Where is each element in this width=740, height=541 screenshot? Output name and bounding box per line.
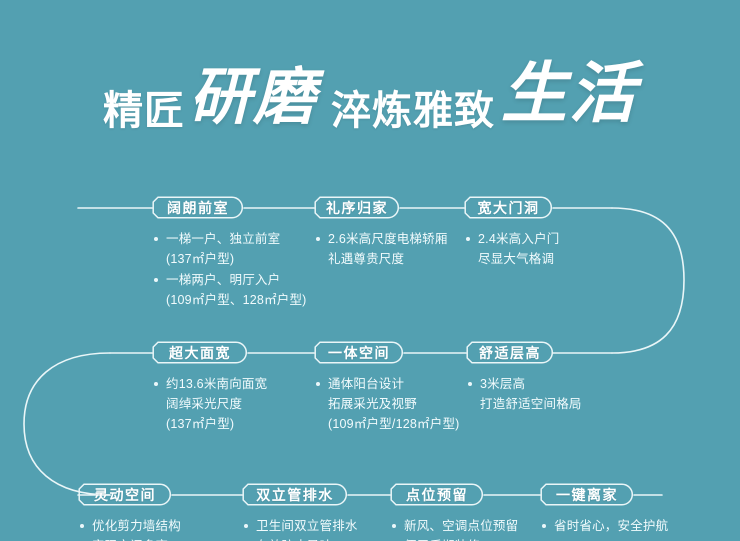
bullet-sub2: (137㎡户型) (166, 417, 234, 431)
connector-uturn-left (24, 353, 110, 495)
card-label-box: 礼序归家 (314, 196, 400, 219)
card-shushi-cenggao[interactable]: 舒适层高 3米层高 打造舒适空间格局 (466, 341, 582, 416)
card-label: 一键离家 (540, 483, 634, 506)
bullet-sub-item: 阔绰采光尺度 (152, 395, 267, 413)
bullet-main: 新风、空调点位预留 (404, 519, 518, 533)
bullet-sub-item: 拓展采光及视野 (314, 395, 460, 413)
card-bullets: 卫生间双立管排水 有效防止异味 (242, 517, 358, 541)
bullet-sub2: (109㎡户型/128㎡户型) (328, 417, 460, 431)
bullet-item: 新风、空调点位预留 (390, 517, 518, 535)
bullet-main: 省时省心，安全护航 (554, 519, 668, 533)
card-label: 礼序归家 (314, 196, 400, 219)
bullet-sub: 礼遇尊贵尺度 (328, 252, 404, 266)
bullet-sub: 尽显大气格调 (478, 252, 554, 266)
bullet-item: 优化剪力墙结构 (78, 517, 181, 535)
bullet-main: 优化剪力墙结构 (92, 519, 181, 533)
card-label-box: 灵动空间 (78, 483, 172, 506)
card-bullets: 2.4米高入户门 尽显大气格调 (464, 230, 559, 268)
bullet-item: 通体阳台设计 (314, 375, 460, 393)
card-yiti-kongjian[interactable]: 一体空间 通体阳台设计 拓展采光及视野 (109㎡户型/128㎡户型) (314, 341, 460, 436)
card-yijian-lijia[interactable]: 一键离家 省时省心，安全护航 (540, 483, 668, 538)
bullet-sub: 阔绰采光尺度 (166, 397, 242, 411)
bullet-main: 2.6米高尺度电梯轿厢 (328, 232, 448, 246)
card-bullets: 通体阳台设计 拓展采光及视野 (109㎡户型/128㎡户型) (314, 375, 460, 433)
bullet-sub: (109㎡户型、128㎡户型) (166, 293, 307, 307)
card-label-box: 宽大门洞 (464, 196, 553, 219)
bullet-sub-item: 有效防止异味 (242, 537, 358, 541)
card-label-box: 点位预留 (390, 483, 484, 506)
card-label-box: 双立管排水 (242, 483, 348, 506)
card-bullets: 2.6米高尺度电梯轿厢 礼遇尊贵尺度 (314, 230, 448, 268)
bullet-main: 一梯一户、独立前室 (166, 232, 280, 246)
card-lingdong-kongjian[interactable]: 灵动空间 优化剪力墙结构 实现空间多变 (78, 483, 181, 541)
bullet-sub-item: (109㎡户型、128㎡户型) (152, 291, 307, 309)
bullet-main: 约13.6米南向面宽 (166, 377, 267, 391)
card-bullets: 约13.6米南向面宽 阔绰采光尺度 (137㎡户型) (152, 375, 267, 433)
card-kuolang-qianshi[interactable]: 阔朗前室 一梯一户、独立前室 (137㎡户型) 一梯两户、明厅入户 (109㎡户… (152, 196, 307, 312)
card-lixu-guijia[interactable]: 礼序归家 2.6米高尺度电梯轿厢 礼遇尊贵尺度 (314, 196, 448, 271)
bullet-item: 2.4米高入户门 (464, 230, 559, 248)
card-bullets: 3米层高 打造舒适空间格局 (466, 375, 582, 413)
bullet-sub-item: 便于后期装修 (390, 537, 518, 541)
poster-stage: 精匠研磨淬炼雅致生活 (0, 0, 740, 541)
card-dianwei-yuliu[interactable]: 点位预留 新风、空调点位预留 便于后期装修 (390, 483, 518, 541)
bullet-main: 通体阳台设计 (328, 377, 404, 391)
bullet-sub-item: 实现空间多变 (78, 537, 181, 541)
card-label: 点位预留 (390, 483, 484, 506)
bullet-sub-item: (137㎡户型) (152, 415, 267, 433)
bullet-main: 卫生间双立管排水 (256, 519, 358, 533)
bullet-sub-item: 尽显大气格调 (464, 250, 559, 268)
card-bullets: 优化剪力墙结构 实现空间多变 (78, 517, 181, 541)
bullet-item: 卫生间双立管排水 (242, 517, 358, 535)
bullet-sub-item: (109㎡户型/128㎡户型) (314, 415, 460, 433)
bullet-sub-item: (137㎡户型) (152, 250, 307, 268)
bullet-item: 省时省心，安全护航 (540, 517, 668, 535)
bullet-main: 一梯两户、明厅入户 (166, 273, 280, 287)
bullet-item: 2.6米高尺度电梯轿厢 (314, 230, 448, 248)
bullet-item: 一梯两户、明厅入户 (152, 271, 307, 289)
bullet-item: 一梯一户、独立前室 (152, 230, 307, 248)
card-bullets: 一梯一户、独立前室 (137㎡户型) 一梯两户、明厅入户 (109㎡户型、128… (152, 230, 307, 309)
bullet-main: 2.4米高入户门 (478, 232, 559, 246)
card-label: 超大面宽 (152, 341, 248, 364)
bullet-sub: 打造舒适空间格局 (480, 397, 582, 411)
card-label: 双立管排水 (242, 483, 348, 506)
bullet-sub-item: 打造舒适空间格局 (466, 395, 582, 413)
bullet-sub: (137㎡户型) (166, 252, 234, 266)
card-label-box: 阔朗前室 (152, 196, 244, 219)
card-label: 舒适层高 (466, 341, 554, 364)
bullet-item: 3米层高 (466, 375, 582, 393)
card-label: 一体空间 (314, 341, 404, 364)
bullet-item: 约13.6米南向面宽 (152, 375, 267, 393)
bullet-sub-item: 礼遇尊贵尺度 (314, 250, 448, 268)
card-chaoda-miankuan[interactable]: 超大面宽 约13.6米南向面宽 阔绰采光尺度 (137㎡户型) (152, 341, 267, 436)
card-kuanda-mendong[interactable]: 宽大门洞 2.4米高入户门 尽显大气格调 (464, 196, 559, 271)
card-label-box: 一体空间 (314, 341, 404, 364)
card-bullets: 新风、空调点位预留 便于后期装修 (390, 517, 518, 541)
card-shuanglian-paishui[interactable]: 双立管排水 卫生间双立管排水 有效防止异味 (242, 483, 358, 541)
card-label-box: 舒适层高 (466, 341, 554, 364)
bullet-main: 3米层高 (480, 377, 525, 391)
card-label-box: 超大面宽 (152, 341, 248, 364)
card-label-box: 一键离家 (540, 483, 634, 506)
connector-uturn-right (612, 208, 684, 353)
card-label: 宽大门洞 (464, 196, 553, 219)
card-bullets: 省时省心，安全护航 (540, 517, 668, 535)
bullet-sub: 拓展采光及视野 (328, 397, 417, 411)
card-label: 阔朗前室 (152, 196, 244, 219)
card-label: 灵动空间 (78, 483, 172, 506)
